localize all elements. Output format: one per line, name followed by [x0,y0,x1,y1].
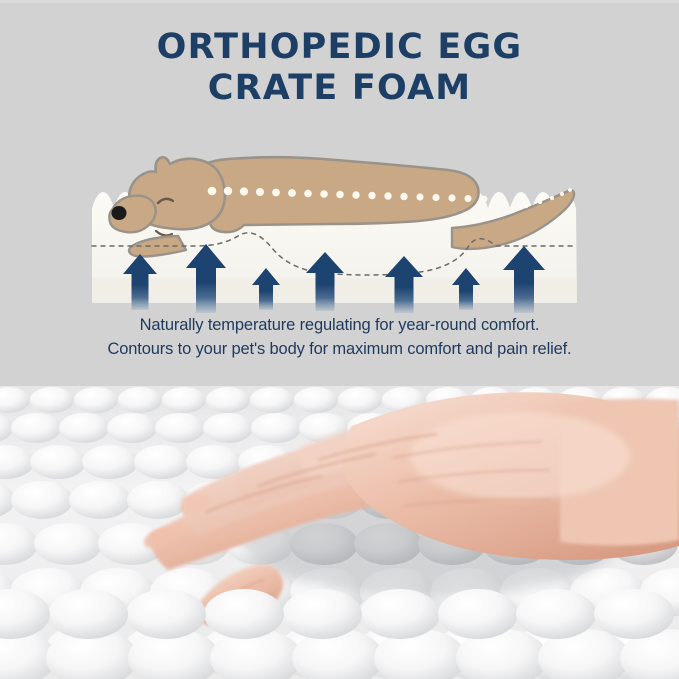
caption-line-2: Contours to your pet's body for maximum … [0,338,679,362]
product-infographic-page: ORTHOPEDIC EGG CRATE FOAM [0,0,679,679]
dog-nose-icon [112,206,127,220]
page-title: ORTHOPEDIC EGG CRATE FOAM [0,27,679,110]
title-line-2: CRATE FOAM [0,68,679,109]
infographic-panel: ORTHOPEDIC EGG CRATE FOAM [0,0,679,386]
title-line-1: ORTHOPEDIC EGG [0,27,679,68]
dog-on-foam-illustration [0,118,679,313]
top-edge-hairline [0,0,679,3]
hand-pressing-foam-photo [0,386,679,679]
caption-line-1: Naturally temperature regulating for yea… [0,314,679,338]
caption: Naturally temperature regulating for yea… [0,314,679,362]
photo-svg [0,386,679,679]
foreground-foam-bumps [0,589,679,679]
illustration-svg [0,118,679,313]
